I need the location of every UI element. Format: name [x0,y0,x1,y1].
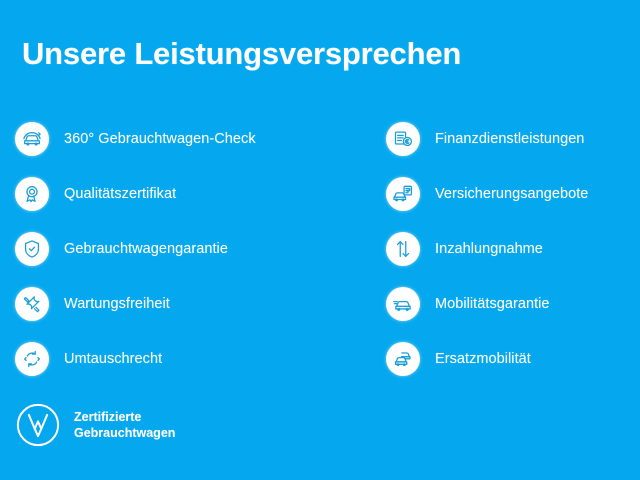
shield-check-icon [15,232,49,266]
promise-item-replacement-mobility[interactable]: Ersatzmobilität [386,331,636,386]
promise-label: Finanzdienstleistungen [435,131,584,147]
promise-item-quality-certificate[interactable]: Qualitätszertifikat [15,166,345,221]
quality-seal-icon [15,177,49,211]
car-360-check-icon [15,122,49,156]
promises-column-right: Finanzdienstleistungen Versicherungsange… [386,111,636,386]
promise-item-maintenance-free[interactable]: Wartungsfreiheit [15,276,345,331]
up-down-arrows-icon [386,232,420,266]
promise-label: Qualitätszertifikat [64,186,176,202]
promise-item-360-check[interactable]: 360° Gebrauchtwagen-Check [15,111,345,166]
footer-line-1: Zertifizierte [74,409,175,425]
promise-label: Gebrauchtwagengarantie [64,241,228,257]
promise-item-trade-in[interactable]: Inzahlungnahme [386,221,636,276]
footer-line-2: Gebrauchtwagen [74,425,175,441]
promise-item-insurance-offers[interactable]: Versicherungsangebote [386,166,636,221]
volkswagen-logo [15,402,61,448]
promise-item-mobility-guarantee[interactable]: Mobilitätsgarantie [386,276,636,331]
promise-item-warranty[interactable]: Gebrauchtwagengarantie [15,221,345,276]
promise-label: Ersatzmobilität [435,351,531,367]
promise-label: 360° Gebrauchtwagen-Check [64,131,256,147]
promise-label: Umtauschrecht [64,351,162,367]
finance-document-euro-icon [386,122,420,156]
page-title: Unsere Leistungsversprechen [22,36,461,72]
wrench-screwdriver-icon [15,287,49,321]
exchange-arrows-icon [15,342,49,376]
promise-label: Mobilitätsgarantie [435,296,550,312]
promise-banner: Unsere Leistungsversprechen 360° Gebrauc… [0,0,640,480]
two-cars-icon [386,342,420,376]
promise-label: Versicherungsangebote [435,186,588,202]
promise-item-financial-services[interactable]: Finanzdienstleistungen [386,111,636,166]
car-insurance-document-icon [386,177,420,211]
promise-label: Inzahlungnahme [435,241,543,257]
car-mobility-icon [386,287,420,321]
promises-column-left: 360° Gebrauchtwagen-Check Qualitätszerti… [15,111,345,386]
promise-item-exchange-right[interactable]: Umtauschrecht [15,331,345,386]
footer-brand: Zertifizierte Gebrauchtwagen [15,402,175,448]
footer-brand-text: Zertifizierte Gebrauchtwagen [74,409,175,441]
promise-label: Wartungsfreiheit [64,296,170,312]
